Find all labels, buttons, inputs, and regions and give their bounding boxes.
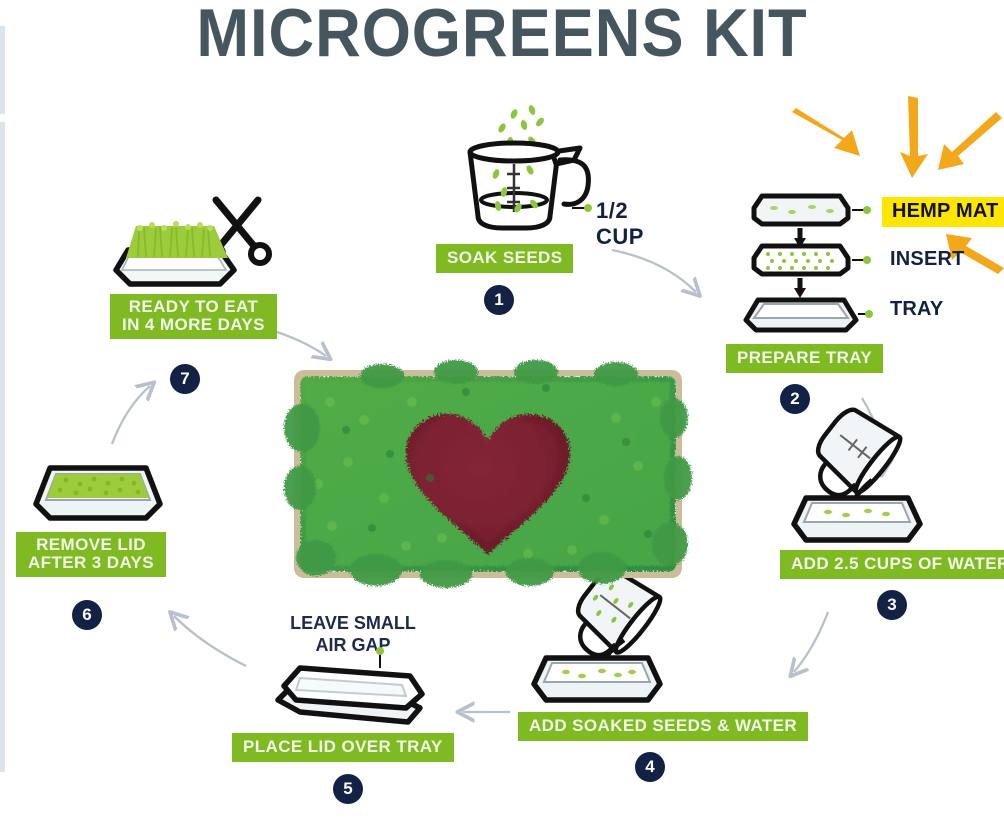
- lid-over-tray-icon: [270, 650, 470, 740]
- step-6-badge-line2: AFTER 3 DAYS: [28, 554, 154, 572]
- air-gap-note-line1: LEAVE SMALL: [290, 613, 416, 633]
- tray-with-pouring-cup-icon: [780, 432, 1000, 552]
- tray-icon: [746, 300, 856, 330]
- orange-arrow-icon-left: [792, 108, 860, 156]
- arrow-step3-to-step4: [794, 612, 828, 672]
- part-label-insert: INSERT: [890, 248, 965, 271]
- left-edge-strip-bottom: [0, 122, 5, 772]
- tray-with-grown-greens-icon: [108, 192, 308, 300]
- orange-arrow-icon-right: [938, 112, 1002, 170]
- step-2-number: 2: [780, 384, 810, 414]
- stacked-tray-exploded-icon: [736, 186, 876, 336]
- step-5-badge[interactable]: PLACE LID OVER TRAY: [232, 733, 454, 762]
- step-7-badge-line2: IN 4 MORE DAYS: [122, 316, 265, 334]
- step-5-number: 5: [333, 774, 363, 804]
- arrow-step1-to-step2: [612, 250, 696, 292]
- arrow-step5-to-step6: [174, 616, 246, 666]
- tray-with-seed-cup-icon: [518, 596, 768, 712]
- step-7-number: 7: [170, 364, 200, 394]
- step-1-number: 1: [484, 285, 514, 315]
- hemp-mat-icon: [754, 196, 848, 224]
- part-label-tray: TRAY: [890, 298, 943, 321]
- step-6-number: 6: [72, 600, 102, 630]
- tray-with-sprouts-icon: [28, 452, 168, 524]
- step-3-number: 3: [877, 590, 907, 620]
- step-2-badge[interactable]: PREPARE TRAY: [726, 344, 883, 373]
- infographic-canvas: MICROGREENS KIT: [0, 0, 1004, 838]
- part-label-hemp-mat: HEMP MAT: [882, 197, 1004, 227]
- page-title: MICROGREENS KIT: [35, 0, 969, 72]
- seeded-tray-icon: [534, 658, 660, 700]
- pouring-cup-icon: [799, 400, 905, 509]
- step-1-badge[interactable]: SOAK SEEDS: [436, 244, 573, 273]
- step-7-badge-line1: READY TO EAT: [129, 297, 259, 316]
- step-6-badge-line1: REMOVE LID: [36, 535, 146, 554]
- water-tray-icon: [794, 498, 920, 540]
- center-microgreens-photo: [286, 358, 690, 588]
- step-4-number: 4: [635, 752, 665, 782]
- orange-arrow-icon-top: [900, 96, 928, 178]
- left-edge-strip-top: [0, 26, 5, 114]
- soak-seeds-amount-label: 1/2 CUP: [596, 198, 660, 250]
- step-3-badge[interactable]: ADD 2.5 CUPS OF WATER: [780, 550, 1004, 579]
- step-7-badge[interactable]: READY TO EAT IN 4 MORE DAYS: [110, 294, 277, 339]
- insert-icon: [754, 246, 848, 274]
- step-6-badge[interactable]: REMOVE LID AFTER 3 DAYS: [16, 532, 166, 577]
- step-4-badge[interactable]: ADD SOAKED SEEDS & WATER: [518, 712, 808, 741]
- arrow-step6-to-step7: [112, 386, 150, 444]
